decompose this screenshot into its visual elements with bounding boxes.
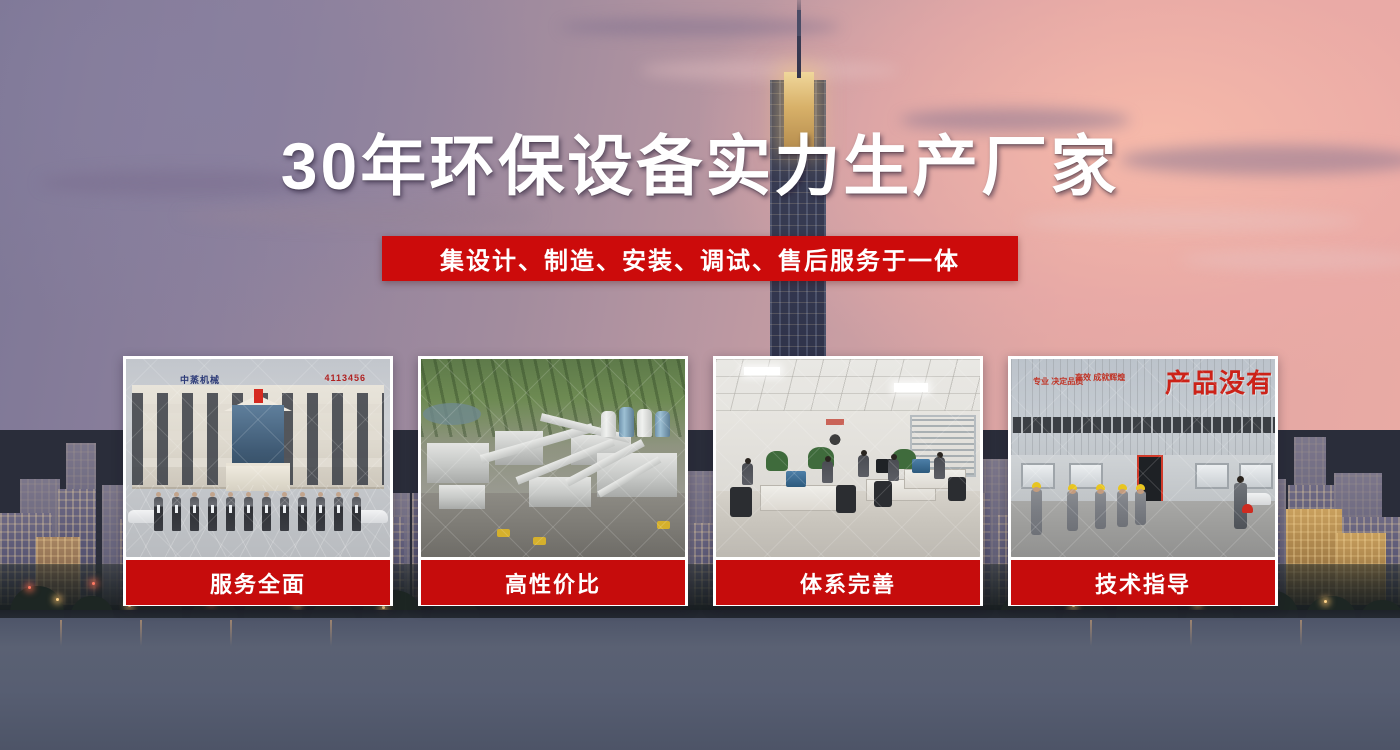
cloud: [180, 205, 540, 227]
building-phone-text: 4113456: [324, 373, 366, 383]
cloud: [640, 60, 900, 80]
subtitle-banner: 集设计、制造、安装、调试、售后服务于一体: [382, 236, 1018, 281]
river: [0, 618, 1400, 750]
feature-card-system[interactable]: 体系完善: [713, 356, 983, 606]
feature-card-list: 中蒸机械 4113456: [123, 356, 1278, 606]
feature-card-value[interactable]: 高性价比: [418, 356, 688, 606]
card-photo-workers: 产品没有 专业 决定品质 高效 成就辉煌: [1011, 359, 1275, 557]
cloud: [1020, 210, 1360, 232]
hero-banner: 30年环保设备实力生产厂家 集设计、制造、安装、调试、售后服务于一体 中蒸机械 …: [0, 0, 1400, 750]
card-photo-building: 中蒸机械 4113456: [126, 359, 390, 557]
tower-spire: [797, 0, 801, 78]
card-caption: 体系完善: [716, 560, 980, 605]
factory-wall-text: 产品没有: [1165, 363, 1273, 400]
card-caption: 技术指导: [1011, 560, 1275, 605]
feature-card-service[interactable]: 中蒸机械 4113456: [123, 356, 393, 606]
building-sign-text: 中蒸机械: [180, 373, 220, 386]
subtitle-text: 集设计、制造、安装、调试、售后服务于一体: [440, 241, 960, 276]
page-title: 30年环保设备实力生产厂家: [0, 133, 1400, 199]
feature-card-training[interactable]: 产品没有 专业 决定品质 高效 成就辉煌: [1008, 356, 1278, 606]
card-photo-plant-aerial: [421, 359, 685, 557]
card-caption: 高性价比: [421, 560, 685, 605]
card-caption: 服务全面: [126, 560, 390, 605]
card-photo-office: [716, 359, 980, 557]
factory-slogan-right: 高效 成就辉煌: [1075, 373, 1125, 383]
